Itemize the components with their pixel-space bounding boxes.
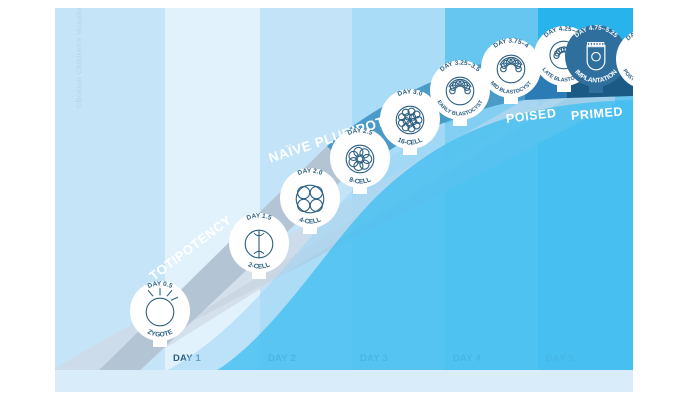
stage-mid-blastocyst[interactable]: DAY 3.75–4MID BLASTOCYST	[481, 38, 541, 98]
baseline-strip	[55, 370, 633, 392]
stage-day-label: DAY 2.5	[347, 127, 374, 137]
stage-name-label: POST IMPLANTATION	[621, 68, 633, 86]
stage-post-implantation[interactable]: DAY 5.5–5.75POST IMPLANTATION	[616, 29, 633, 89]
stage-day-label: DAY 0.5	[147, 280, 174, 290]
stage-name-label: MID BLASTOCYST	[489, 80, 534, 96]
stage-name-label: 8-CELL	[348, 176, 372, 185]
stage-name-label: 16-CELL	[396, 137, 423, 147]
stage-zygote[interactable]: DAY 0.5ZYGOTE	[130, 281, 190, 341]
stage-day-label: DAY 3.0	[397, 88, 424, 98]
stage-day-label: DAY 4.75–5.25	[573, 24, 619, 39]
figure-root: ©Boston Children's Hospital DAY 1DAY 2DA…	[0, 0, 700, 400]
stage-day-label: DAY 3.75–4	[492, 37, 530, 49]
stage-day-label: DAY 1.5	[246, 212, 273, 222]
stage-name-label: 2-CELL	[247, 261, 271, 270]
stage-name-label: IMPLANTATION	[573, 68, 619, 84]
stage-day-label: DAY 3.25–3.5	[439, 59, 482, 73]
diagram-panel: ©Boston Children's Hospital DAY 1DAY 2DA…	[55, 8, 633, 392]
stage-day-label: DAY 2.0	[297, 167, 324, 177]
stage-name-label: 4-CELL	[298, 216, 322, 225]
stage-name-label: ZYGOTE	[146, 328, 174, 338]
stage-name-label: EARLY BLASTOCYST	[435, 99, 484, 118]
stage-day-label: DAY 5.5–5.75	[625, 28, 633, 42]
